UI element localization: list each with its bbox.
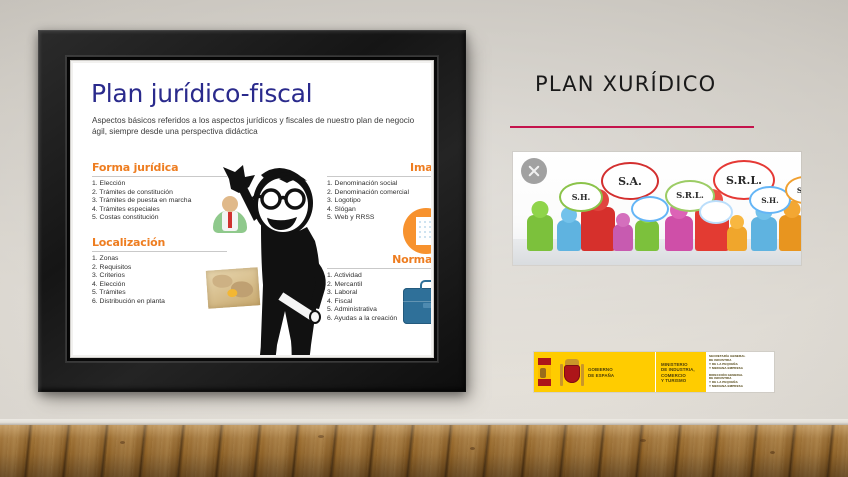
gobierno-block: GOBIERNO DE ESPAÑA [554, 352, 655, 392]
poster-title: Plan jurídico-fiscal [91, 79, 312, 108]
figure-person [727, 215, 747, 251]
section-heading: Forma jurídica [92, 161, 227, 177]
picture-frame[interactable]: Plan jurídico-fiscal Aspectos básicos re… [38, 30, 466, 392]
section-heading: Imagen [327, 161, 431, 177]
wooden-floor [0, 425, 848, 477]
section-heading: Localización [92, 236, 227, 252]
blue-briefcase-icon [403, 288, 431, 324]
ministerio-label: MINISTERIO DE INDUSTRIA, COMERCIO Y TURI… [661, 362, 702, 384]
secretaria-label: SECRETARÍA GENERAL DE INDUSTRIA Y DE LA … [709, 355, 771, 370]
list-item: 2. Trámites de constitución [92, 189, 227, 198]
list-item: 3. Trámites de puesta en marcha [92, 197, 227, 206]
ministerio-block: MINISTERIO DE INDUSTRIA, COMERCIO Y TURI… [656, 352, 706, 392]
speech-bubble: S.A. [601, 162, 659, 200]
figure-person [557, 207, 581, 251]
floor-sheen [0, 425, 848, 477]
list-item: 3. Logotipo [327, 197, 431, 206]
list-item: 1. Elección [92, 180, 227, 189]
speech-bubble-empty [631, 196, 669, 222]
frame-inner-lip: Plan jurídico-fiscal Aspectos básicos re… [66, 56, 438, 362]
poster-canvas: Plan jurídico-fiscal Aspectos básicos re… [73, 63, 431, 355]
figure-person [527, 201, 553, 251]
slide-canvas: Plan jurídico-fiscal Aspectos básicos re… [0, 0, 848, 477]
section-forma-juridica: Forma jurídica 1. Elección 2. Trámites d… [92, 161, 227, 223]
list-item: 1. Zonas [92, 255, 227, 264]
close-icon[interactable] [521, 158, 547, 184]
secretaria-block: SECRETARÍA GENERAL DE INDUSTRIA Y DE LA … [706, 352, 774, 392]
list-item: 4. Trámites especiales [92, 206, 227, 215]
gobierno-label: GOBIERNO DE ESPAÑA [588, 367, 614, 378]
spain-flag-icon [534, 352, 554, 392]
title-underline-rule [510, 126, 754, 128]
frame-mat: Plan jurídico-fiscal Aspectos básicos re… [70, 60, 434, 358]
section-list: 1. Elección 2. Trámites de constitución … [92, 180, 227, 223]
list-item: 1. Actividad [327, 272, 431, 281]
list-item: 1. Denominación social [327, 180, 431, 189]
direccion-label: DIRECCIÓN GENERAL DE INDUSTRIA Y DE LA P… [709, 374, 771, 389]
infographic: Plan jurídico-fiscal Aspectos básicos re… [73, 63, 431, 355]
section-heading: Normativa [327, 253, 431, 269]
list-item: 2. Denominación comercial [327, 189, 431, 198]
poster-subtitle: Aspectos básicos referidos a los aspecto… [92, 115, 427, 137]
coat-of-arms-icon [559, 358, 585, 388]
figure-person [613, 213, 633, 251]
speech-bubble-empty [699, 200, 733, 224]
society-types-image[interactable]: S.H. S.A. S.R.L. S.R.L. S.H. S.A. [513, 152, 801, 265]
spanish-government-logo: GOBIERNO DE ESPAÑA MINISTERIO DE INDUSTR… [534, 352, 774, 392]
page-title: PLAN XURÍDICO [535, 72, 716, 96]
speech-bubble: S.H. [559, 182, 603, 212]
cartoon-lecturer-figure [221, 163, 341, 355]
list-item: 5. Costas constitución [92, 214, 227, 223]
